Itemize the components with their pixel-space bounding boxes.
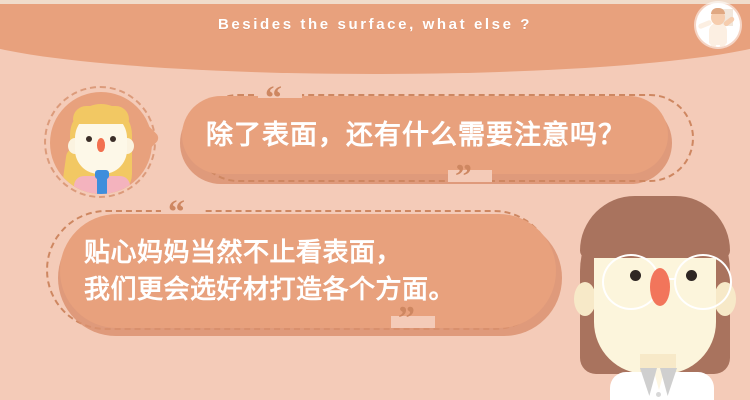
answer-bubble: 贴心妈妈当然不止看表面， 我们更会选好材打造各个方面。 xyxy=(44,208,584,344)
mother-fringe xyxy=(580,196,730,258)
mother-eye-left xyxy=(630,270,641,281)
child-nose xyxy=(97,138,105,152)
mother-shirt-button-1 xyxy=(656,392,661,397)
question-line-1: 除了表面，还有什么需要注意吗？ xyxy=(206,116,656,154)
answer-open-quote-icon: “ xyxy=(168,196,185,230)
mother-eye-right xyxy=(686,270,697,281)
mother-nose xyxy=(650,268,670,306)
answer-close-quote-icon: ” xyxy=(398,302,415,336)
answer-line-2: 我们更会选好材打造各个方面。 xyxy=(84,271,544,308)
answer-line-1: 贴心妈妈当然不止看表面， xyxy=(84,234,544,271)
child-eye-left xyxy=(86,136,92,142)
question-close-quote-icon: ” xyxy=(455,160,472,194)
child-tie-knot xyxy=(95,170,109,179)
banner-stage: Besides the surface, what else ? xyxy=(0,0,750,400)
baby-hair xyxy=(711,8,725,14)
avatar-circle xyxy=(50,92,152,194)
answer-bubble-text: 贴心妈妈当然不止看表面， 我们更会选好材打造各个方面。 xyxy=(84,214,544,328)
baby-leg-right xyxy=(720,39,725,47)
page-title: Besides the surface, what else ? xyxy=(0,0,750,48)
mother-with-glasses-icon xyxy=(556,196,750,400)
question-open-quote-icon: “ xyxy=(265,82,282,116)
child-fringe xyxy=(73,106,129,124)
child-eye-right xyxy=(110,136,116,142)
glasses-lens-right-icon xyxy=(674,254,732,310)
baby-avatar-icon[interactable] xyxy=(696,3,740,47)
baby-leg-left xyxy=(711,39,716,47)
blonde-child-avatar-icon[interactable] xyxy=(44,86,162,200)
question-bubble: 除了表面，还有什么需要注意吗？ xyxy=(176,92,696,192)
